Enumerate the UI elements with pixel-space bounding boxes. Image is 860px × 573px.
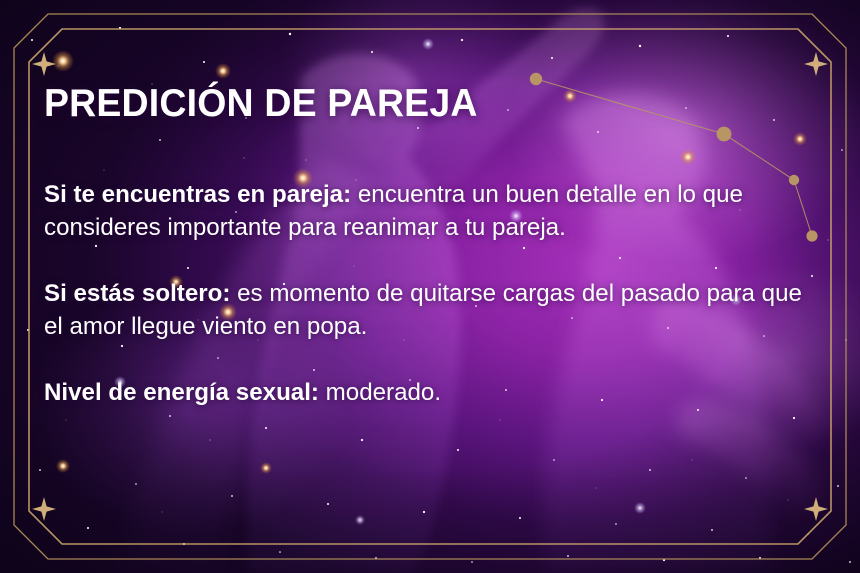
horoscope-prediction-card: PREDICIÓN DE PAREJA Si te encuentras en … [0, 0, 860, 573]
prediction-paragraph-couple: Si te encuentras en pareja: encuentra un… [44, 179, 802, 244]
paragraph-lead-single: Si estás soltero: [44, 280, 230, 307]
card-content: PREDICIÓN DE PAREJA Si te encuentras en … [0, 0, 860, 573]
paragraph-lead-couple: Si te encuentras en pareja: [44, 181, 351, 208]
paragraph-lead-energy: Nivel de energía sexual: [44, 379, 319, 406]
paragraph-body-energy: moderado. [319, 379, 441, 406]
prediction-paragraph-single: Si estás soltero: es momento de quitarse… [44, 278, 802, 343]
page-title: PREDICIÓN DE PAREJA [44, 84, 783, 123]
prediction-paragraph-energy: Nivel de energía sexual: moderado. [44, 377, 802, 410]
